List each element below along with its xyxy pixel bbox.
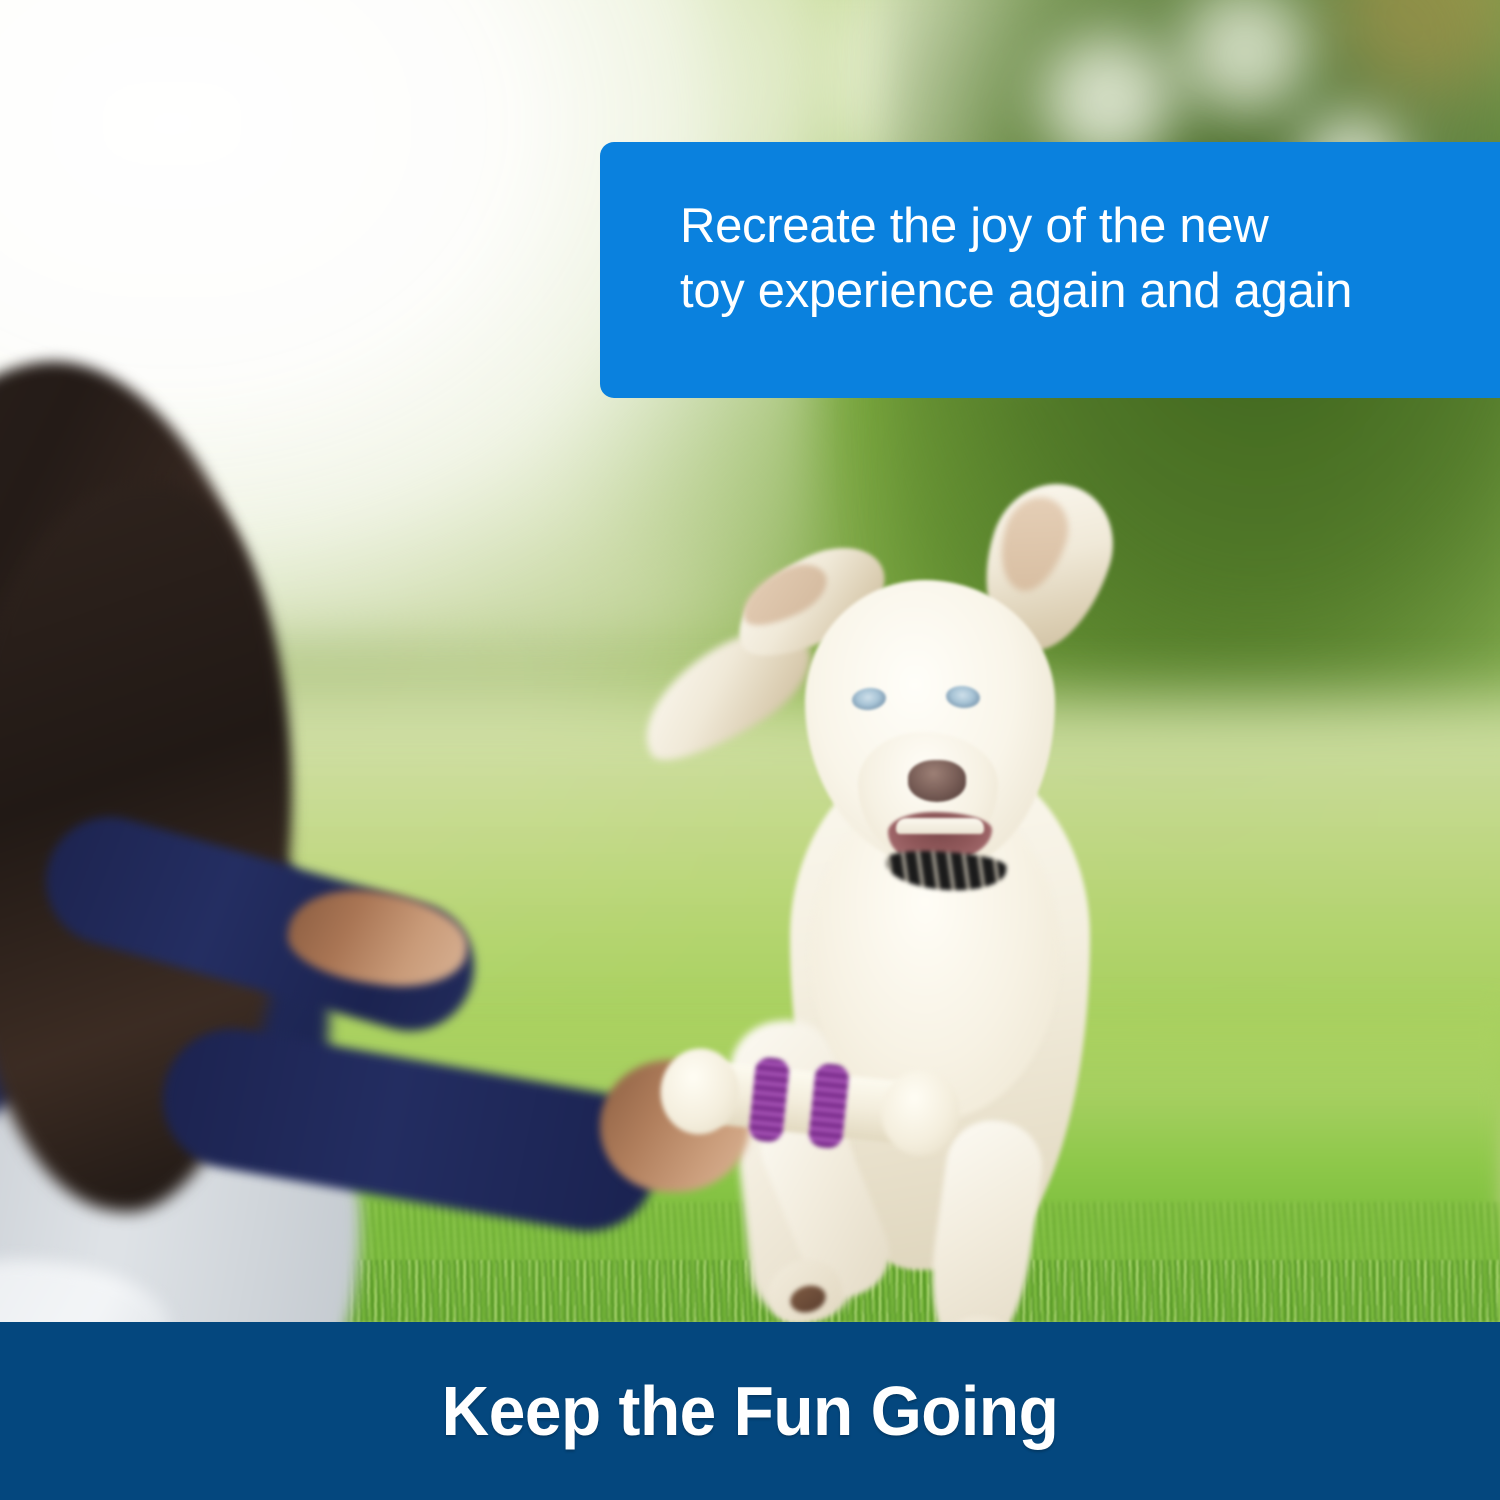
bottom-title-bar: Keep the Fun Going bbox=[0, 1322, 1500, 1500]
product-image-card: Recreate the joy of the new toy experien… bbox=[0, 0, 1500, 1500]
dog-nose bbox=[908, 760, 966, 802]
person-subject bbox=[0, 360, 620, 1322]
bottom-bar-title: Keep the Fun Going bbox=[442, 1371, 1059, 1451]
lifestyle-photo: Recreate the joy of the new toy experien… bbox=[0, 0, 1500, 1322]
dog-toy bbox=[653, 1013, 967, 1194]
callout-text: Recreate the joy of the new toy experien… bbox=[680, 194, 1442, 324]
callout-banner: Recreate the joy of the new toy experien… bbox=[600, 142, 1500, 398]
dog-teeth bbox=[896, 818, 984, 834]
